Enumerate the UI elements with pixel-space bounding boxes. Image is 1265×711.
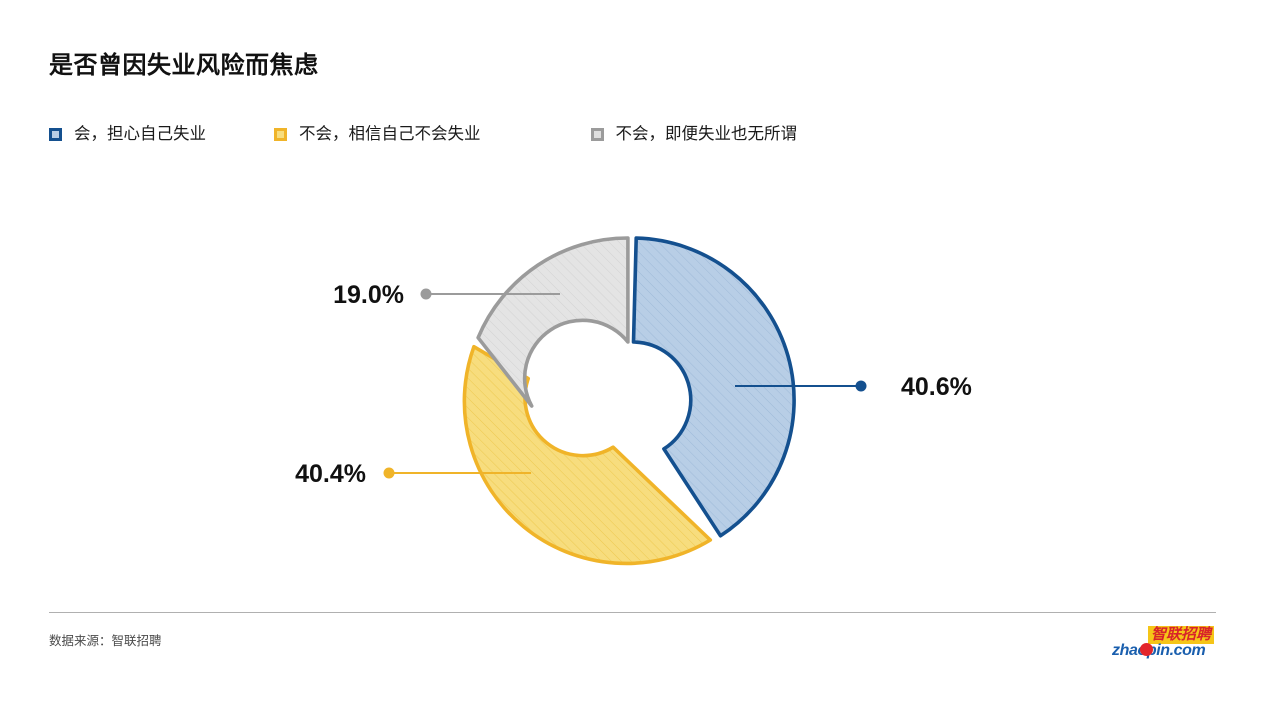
legend-item-will-worry[interactable]: 会，担心自己失业: [49, 126, 206, 143]
data-source-text: 数据来源：智联招聘: [49, 630, 162, 649]
legend-swatch-blue-icon: [49, 128, 62, 141]
chart-legend: 会，担心自己失业 不会，相信自己不会失业 不会，即便失业也无所谓: [49, 126, 797, 143]
legend-item-wont-indifferent[interactable]: 不会，即便失业也无所谓: [591, 126, 798, 143]
legend-item-wont-confident[interactable]: 不会，相信自己不会失业: [274, 126, 481, 143]
leader-dot-blue: [856, 381, 867, 392]
value-label-blue: 40.6%: [901, 373, 972, 401]
legend-label-wont-confident: 不会，相信自己不会失业: [299, 126, 481, 143]
donut-chart-svg: 40.6% 40.4% 19.0%: [0, 168, 1265, 598]
page-title: 是否曾因失业风险而焦虑: [49, 45, 319, 80]
donut-chart-area: 40.6% 40.4% 19.0%: [0, 168, 1265, 598]
logo-red-dot-icon: [1140, 643, 1153, 656]
value-label-gray: 19.0%: [333, 281, 404, 309]
logo-domain-text: zhaopin.com: [1112, 643, 1205, 659]
legend-label-wont-indifferent: 不会，即便失业也无所谓: [616, 126, 798, 143]
leader-dot-gray: [421, 289, 432, 300]
footer-divider: [49, 612, 1216, 613]
legend-swatch-yellow-icon: [274, 128, 287, 141]
legend-swatch-gray-icon: [591, 128, 604, 141]
leader-dot-yellow: [384, 468, 395, 479]
value-label-yellow: 40.4%: [295, 460, 366, 488]
zhaopin-logo[interactable]: 智联招聘 zhaopin.com: [1112, 626, 1224, 664]
legend-label-will-worry: 会，担心自己失业: [74, 126, 206, 143]
